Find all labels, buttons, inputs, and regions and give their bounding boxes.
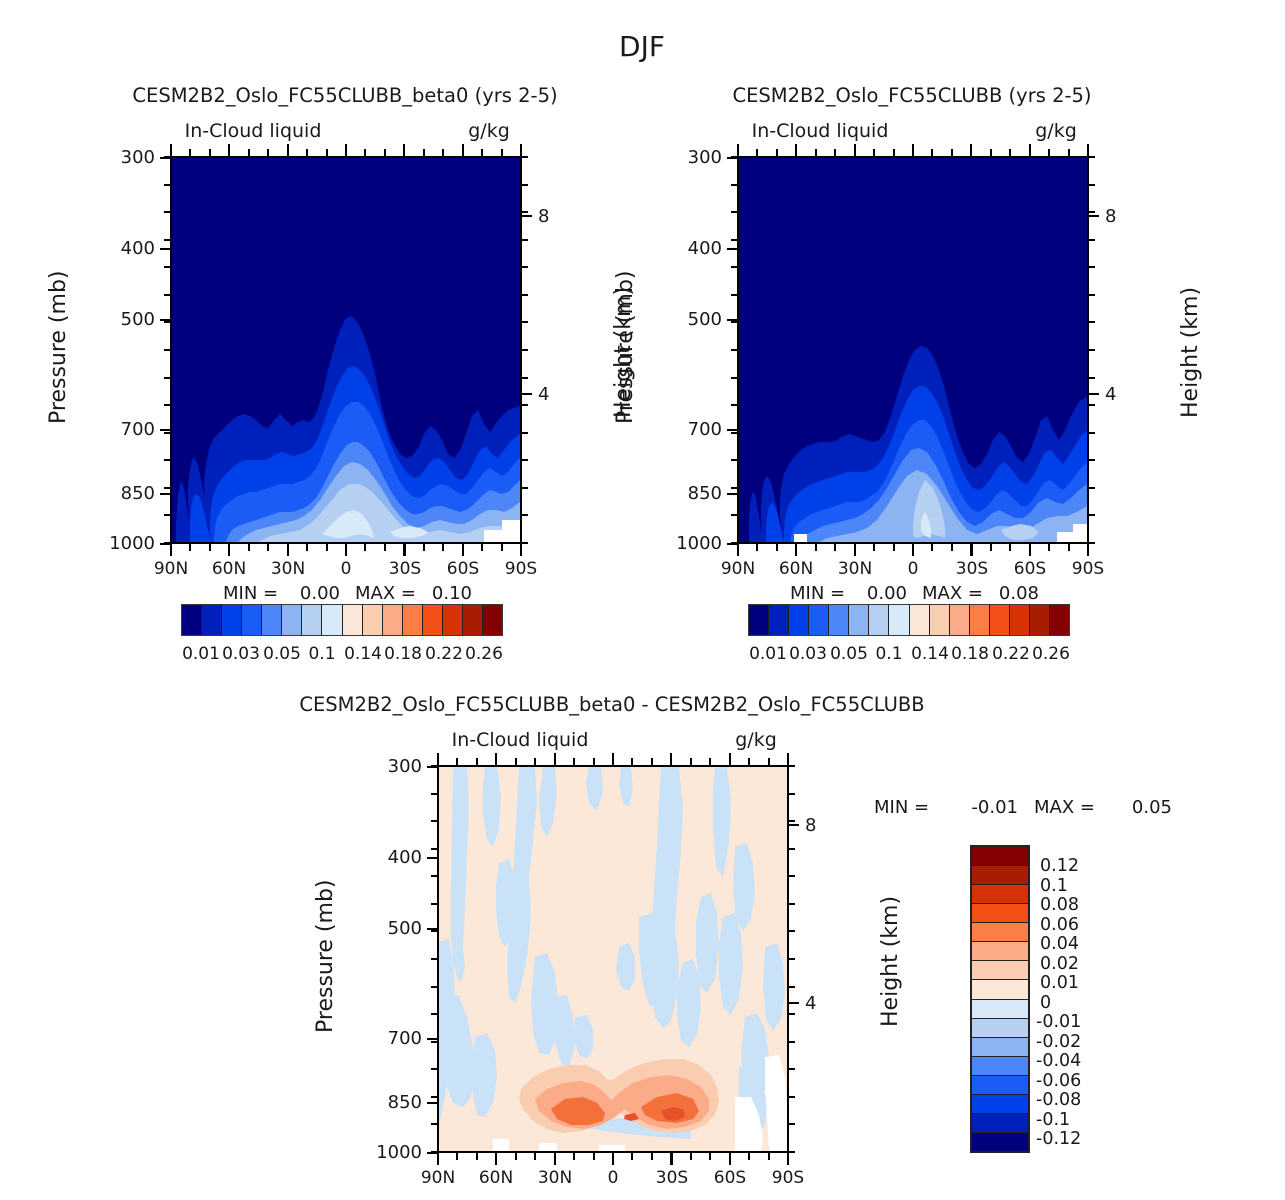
axis-minor-tick: [731, 487, 737, 489]
axis-minor-tick: [731, 156, 737, 158]
axis-minor-tick: [164, 294, 170, 296]
panel-top-left-plot-area: [170, 156, 522, 544]
panel-bottom-yaxis-label: Pressure (mb): [313, 880, 338, 1034]
xtick-label: 90N: [721, 559, 755, 579]
xtick-label: 90N: [154, 559, 188, 579]
contour-plot-top-right: [739, 158, 1087, 542]
axis-minor-tick: [612, 1153, 614, 1165]
axis-minor-tick: [789, 875, 795, 877]
axis-minor-tick: [873, 149, 875, 156]
axis-minor-tick: [170, 144, 172, 156]
axis-minor-tick: [164, 542, 170, 544]
ytick-label: 700: [388, 1028, 422, 1049]
ytick-label: 400: [688, 238, 722, 259]
axis-minor-tick: [731, 377, 737, 379]
axis-minor-tick: [893, 149, 895, 156]
axis-minor-tick: [756, 544, 758, 551]
axis-minor-tick: [709, 758, 711, 765]
axis-minor-tick: [1048, 544, 1050, 551]
axis-minor-tick: [248, 544, 250, 551]
axis-minor-tick: [164, 514, 170, 516]
xtick-label: 0: [341, 559, 352, 579]
cbar-tick-label: 0.01: [182, 644, 220, 664]
axis-minor-tick: [534, 1153, 536, 1160]
axis-minor-tick: [1068, 544, 1070, 551]
axis-minor-tick: [951, 544, 953, 551]
axis-minor-tick: [787, 753, 789, 765]
cbar-tick-label: 0.03: [222, 644, 260, 664]
cbar-tick-label: -0.02: [1036, 1032, 1081, 1052]
axis-minor-tick: [737, 144, 739, 156]
axis-minor-tick: [164, 321, 170, 323]
axis-minor-tick: [593, 1153, 595, 1160]
axis-minor-tick: [612, 753, 614, 765]
axis-minor-tick: [287, 544, 289, 556]
axis-minor-tick: [228, 144, 230, 156]
axis-minor-tick: [209, 149, 211, 156]
axis-minor-tick: [731, 266, 737, 268]
axis-minor-tick: [554, 1153, 556, 1165]
panel-bottom-variable-label: In-Cloud liquid: [452, 729, 589, 751]
xtick-label: 30S: [656, 1168, 688, 1188]
axis-minor-tick: [164, 211, 170, 213]
xtick-label: 60S: [714, 1168, 746, 1188]
xtick-label: 90S: [505, 559, 537, 579]
axis-minor-tick: [345, 144, 347, 156]
panel-top-right-min-value: 0.00: [867, 583, 907, 604]
cbar-tick-label: -0.06: [1036, 1071, 1081, 1091]
axis-minor-tick: [731, 294, 737, 296]
axis-minor-tick: [854, 544, 856, 556]
axis-minor-tick: [522, 294, 528, 296]
axis-minor-tick: [306, 544, 308, 551]
panel-top-left-units-label: g/kg: [468, 120, 510, 142]
axis-minor-tick: [1089, 321, 1095, 323]
panel-bottom-max-value: 0.05: [1132, 797, 1172, 818]
axis-minor-tick: [731, 211, 737, 213]
axis-minor-tick: [787, 1153, 789, 1165]
ytick-label: 500: [121, 309, 155, 330]
axis-minor-tick: [690, 1153, 692, 1160]
cbar-tick-label: 0.12: [1040, 856, 1079, 876]
axis-minor-tick: [651, 758, 653, 765]
axis-minor-tick: [1089, 487, 1095, 489]
cbar-tick-label: 0.1: [875, 644, 902, 664]
axis-minor-tick: [164, 404, 170, 406]
xtick-label: 30N: [838, 559, 872, 579]
cbar-tick-label: 0.02: [1040, 954, 1079, 974]
axis-minor-tick: [456, 1153, 458, 1160]
axis-minor-tick: [431, 1151, 437, 1153]
axis-minor-tick: [403, 544, 405, 556]
axis-minor-tick: [729, 753, 731, 765]
panel-top-left-title: CESM2B2_Oslo_FC55CLUBB_beta0 (yrs 2-5): [132, 84, 557, 107]
axis-minor-tick: [731, 542, 737, 544]
y2tick-label: 4: [805, 993, 816, 1014]
axis-minor-tick: [431, 930, 437, 932]
axis-minor-tick: [501, 149, 503, 156]
axis-minor-tick: [431, 1068, 437, 1070]
axis-minor-tick: [748, 758, 750, 765]
axis-minor-tick: [164, 487, 170, 489]
axis-minor-tick: [1089, 542, 1095, 544]
panel-bottom-plot-area: [437, 765, 789, 1153]
axis-minor-tick: [164, 459, 170, 461]
axis-minor-tick: [520, 544, 522, 556]
axis-minor-tick: [189, 544, 191, 551]
ytick-label: 1000: [376, 1142, 422, 1163]
cbar-tick-label: 0: [1040, 993, 1051, 1013]
cbar-tick-label: -0.12: [1036, 1129, 1081, 1149]
axis-minor-tick: [267, 544, 269, 551]
xtick-label: 0: [608, 1168, 619, 1188]
axis-minor-tick: [789, 958, 795, 960]
ytick-label: 700: [688, 419, 722, 440]
axis-minor-tick: [522, 184, 528, 186]
panel-bottom-y2axis-label: Height (km): [878, 896, 903, 1027]
cbar-tick-label: -0.01: [1036, 1012, 1081, 1032]
panel-top-right-min-label: MIN =: [790, 583, 845, 604]
axis-minor-tick: [912, 144, 914, 156]
axis-minor-tick: [873, 544, 875, 551]
contour-plot-bottom-difference: [439, 767, 787, 1151]
axis-minor-tick: [431, 1013, 437, 1015]
axis-minor-tick: [431, 958, 437, 960]
axis-minor-tick: [164, 184, 170, 186]
axis-minor-tick: [1087, 544, 1089, 556]
axis-minor-tick: [729, 1153, 731, 1165]
axis-minor-tick: [1029, 544, 1031, 556]
xtick-label: 30N: [271, 559, 305, 579]
axis-minor-tick: [709, 1153, 711, 1160]
axis-minor-tick: [834, 544, 836, 551]
axis-minor-tick: [522, 459, 528, 461]
axis-minor-tick: [431, 1041, 437, 1043]
axis-minor-tick: [442, 149, 444, 156]
axis-minor-tick: [501, 544, 503, 551]
axis-minor-tick: [789, 930, 795, 932]
axis-minor-tick: [731, 349, 737, 351]
axis-minor-tick: [164, 239, 170, 241]
axis-minor-tick: [164, 377, 170, 379]
axis-minor-tick: [554, 753, 556, 765]
axis-minor-tick: [522, 432, 528, 434]
xtick-label: 30S: [389, 559, 421, 579]
axis-minor-tick: [737, 544, 739, 556]
axis-minor-tick: [364, 544, 366, 551]
axis-minor-tick: [431, 1096, 437, 1098]
axis-minor-tick: [990, 149, 992, 156]
axis-minor-tick: [1089, 156, 1095, 158]
axis-minor-tick: [522, 514, 528, 516]
axis-minor-tick: [789, 986, 795, 988]
xtick-label: 0: [908, 559, 919, 579]
axis-minor-tick: [1009, 544, 1011, 551]
axis-minor-tick: [768, 758, 770, 765]
xtick-label: 60N: [479, 1168, 513, 1188]
axis-minor-tick: [522, 321, 528, 323]
xtick-label: 60S: [447, 559, 479, 579]
axis-minor-tick: [789, 1013, 795, 1015]
panel-top-right-plot-area: [737, 156, 1089, 544]
axis-minor-tick: [431, 1123, 437, 1125]
axis-minor-tick: [522, 377, 528, 379]
colorbar-top-right: [748, 604, 1070, 636]
colorbar-bottom-difference: [970, 845, 1030, 1153]
axis-minor-tick: [1089, 349, 1095, 351]
axis-minor-tick: [1068, 149, 1070, 156]
axis-minor-tick: [795, 544, 797, 556]
ytick-label: 400: [121, 238, 155, 259]
axis-minor-tick: [931, 149, 933, 156]
xtick-label: 60N: [779, 559, 813, 579]
season-title: DJF: [619, 30, 665, 63]
axis-minor-tick: [795, 144, 797, 156]
ytick-label: 500: [388, 918, 422, 939]
panel-top-right-yaxis-label: Pressure (mb): [613, 271, 638, 425]
axis-minor-tick: [403, 144, 405, 156]
axis-minor-tick: [789, 793, 795, 795]
axis-minor-tick: [1089, 239, 1095, 241]
y2tick-label: 4: [538, 384, 549, 405]
axis-minor-tick: [789, 820, 795, 822]
cbar-tick-label: 0.26: [465, 644, 503, 664]
axis-minor-tick: [1089, 459, 1095, 461]
panel-top-right-variable-label: In-Cloud liquid: [752, 120, 889, 142]
axis-minor-tick: [789, 1123, 795, 1125]
axis-minor-tick: [164, 266, 170, 268]
axis-minor-tick: [1089, 211, 1095, 213]
axis-minor-tick: [431, 848, 437, 850]
panel-top-left-yaxis-label: Pressure (mb): [46, 271, 71, 425]
axis-minor-tick: [431, 793, 437, 795]
axis-minor-tick: [1089, 184, 1095, 186]
axis-minor-tick: [815, 544, 817, 551]
panel-bottom-max-label: MAX =: [1034, 797, 1095, 818]
axis-minor-tick: [326, 149, 328, 156]
axis-minor-tick: [267, 149, 269, 156]
axis-minor-tick: [522, 211, 528, 213]
xtick-label: 60N: [212, 559, 246, 579]
axis-minor-tick: [731, 432, 737, 434]
y2tick-label: 8: [1105, 206, 1116, 227]
cbar-tick-label: 0.1: [1040, 876, 1068, 896]
axis-minor-tick: [423, 149, 425, 156]
axis-minor-tick: [522, 266, 528, 268]
axis-minor-tick: [476, 1153, 478, 1160]
panel-top-left-max-label: MAX =: [355, 583, 416, 604]
axis-minor-tick: [1089, 294, 1095, 296]
axis-minor-tick: [384, 149, 386, 156]
ytick-label: 700: [121, 419, 155, 440]
ytick-label: 850: [121, 483, 155, 504]
axis-minor-tick: [970, 144, 972, 156]
panel-bottom-title: CESM2B2_Oslo_FC55CLUBB_beta0 - CESM2B2_O…: [299, 693, 924, 716]
cbar-tick-label: 0.01: [1040, 973, 1079, 993]
ytick-label: 300: [688, 147, 722, 168]
axis-minor-tick: [522, 349, 528, 351]
axis-minor-tick: [170, 544, 172, 556]
y2tick-label: 8: [805, 815, 816, 836]
axis-minor-tick: [931, 544, 933, 551]
axis-minor-tick: [522, 239, 528, 241]
axis-minor-tick: [756, 149, 758, 156]
axis-minor-tick: [228, 544, 230, 556]
axis-minor-tick: [437, 1153, 439, 1165]
colorbar-top-left: [181, 604, 503, 636]
axis-minor-tick: [431, 820, 437, 822]
axis-minor-tick: [423, 544, 425, 551]
axis-minor-tick: [670, 753, 672, 765]
axis-minor-tick: [834, 149, 836, 156]
axis-minor-tick: [776, 149, 778, 156]
axis-minor-tick: [731, 239, 737, 241]
axis-minor-tick: [522, 156, 528, 158]
axis-minor-tick: [631, 1153, 633, 1160]
ytick-label: 1000: [676, 533, 722, 554]
axis-minor-tick: [431, 903, 437, 905]
xtick-label: 90N: [421, 1168, 455, 1188]
panel-top-right-units-label: g/kg: [1035, 120, 1077, 142]
axis-minor-tick: [1009, 149, 1011, 156]
ytick-label: 1000: [109, 533, 155, 554]
cbar-tick-label: 0.22: [992, 644, 1030, 664]
axis-minor-tick: [748, 1153, 750, 1160]
cbar-tick-label: 0.05: [830, 644, 868, 664]
axis-minor-tick: [776, 544, 778, 551]
axis-minor-tick: [515, 758, 517, 765]
contour-plot-top-left: [172, 158, 520, 542]
axis-minor-tick: [731, 514, 737, 516]
axis-minor-tick: [789, 1151, 795, 1153]
axis-minor-tick: [442, 544, 444, 551]
panel-bottom-min-value: -0.01: [971, 797, 1018, 818]
axis-minor-tick: [345, 544, 347, 556]
panel-top-right-y2axis-label: Height (km): [1178, 287, 1203, 418]
panel-top-right-title: CESM2B2_Oslo_FC55CLUBB (yrs 2-5): [732, 84, 1091, 107]
axis-minor-tick: [164, 156, 170, 158]
panel-top-right-max-value: 0.08: [999, 583, 1039, 604]
ytick-label: 400: [388, 847, 422, 868]
axis-minor-tick: [815, 149, 817, 156]
cbar-tick-label: 0.1: [308, 644, 335, 664]
axis-minor-tick: [495, 1153, 497, 1165]
y2tick-label: 4: [1105, 384, 1116, 405]
axis-minor-tick: [789, 1096, 795, 1098]
axis-minor-tick: [789, 903, 795, 905]
cbar-tick-label: 0.08: [1040, 895, 1079, 915]
cbar-tick-label: 0.04: [1040, 934, 1079, 954]
axis-minor-tick: [768, 1153, 770, 1160]
axis-minor-tick: [462, 144, 464, 156]
axis-minor-tick: [164, 432, 170, 434]
axis-minor-tick: [854, 144, 856, 156]
cbar-tick-label: 0.14: [344, 644, 382, 664]
axis-minor-tick: [573, 1153, 575, 1160]
axis-minor-tick: [437, 753, 439, 765]
cbar-tick-label: 0.22: [425, 644, 463, 664]
axis-minor-tick: [522, 404, 528, 406]
axis-minor-tick: [789, 1041, 795, 1043]
panel-top-left-variable-label: In-Cloud liquid: [185, 120, 322, 142]
panel-top-left-max-value: 0.10: [432, 583, 472, 604]
axis-minor-tick: [731, 459, 737, 461]
axis-minor-tick: [1048, 149, 1050, 156]
cbar-tick-label: 0.14: [911, 644, 949, 664]
xtick-label: 30S: [956, 559, 988, 579]
axis-minor-tick: [209, 544, 211, 551]
axis-minor-tick: [306, 149, 308, 156]
axis-minor-tick: [1089, 514, 1095, 516]
panel-top-left-min-label: MIN =: [223, 583, 278, 604]
axis-minor-tick: [287, 144, 289, 156]
axis-minor-tick: [789, 848, 795, 850]
axis-minor-tick: [462, 544, 464, 556]
ytick-label: 850: [388, 1092, 422, 1113]
xtick-label: 90S: [1072, 559, 1104, 579]
axis-minor-tick: [481, 544, 483, 551]
xtick-label: 60S: [1014, 559, 1046, 579]
axis-minor-tick: [534, 758, 536, 765]
axis-minor-tick: [631, 758, 633, 765]
cbar-tick-label: 0.18: [384, 644, 422, 664]
axis-minor-tick: [481, 149, 483, 156]
cbar-tick-label: 0.03: [789, 644, 827, 664]
cbar-tick-label: 0.05: [263, 644, 301, 664]
axis-minor-tick: [1029, 144, 1031, 156]
cbar-tick-label: 0.18: [951, 644, 989, 664]
axis-minor-tick: [431, 986, 437, 988]
axis-minor-tick: [789, 1068, 795, 1070]
axis-minor-tick: [1089, 377, 1095, 379]
axis-minor-tick: [1089, 432, 1095, 434]
axis-minor-tick: [431, 875, 437, 877]
axis-minor-tick: [593, 758, 595, 765]
axis-minor-tick: [476, 758, 478, 765]
axis-minor-tick: [326, 544, 328, 551]
cbar-tick-label: 0.26: [1032, 644, 1070, 664]
axis-minor-tick: [431, 765, 437, 767]
panel-top-right-max-label: MAX =: [922, 583, 983, 604]
axis-minor-tick: [1089, 266, 1095, 268]
axis-minor-tick: [364, 149, 366, 156]
xtick-label: 30N: [538, 1168, 572, 1188]
axis-minor-tick: [495, 753, 497, 765]
ytick-label: 300: [121, 147, 155, 168]
cbar-tick-label: -0.04: [1036, 1051, 1081, 1071]
axis-minor-tick: [164, 349, 170, 351]
axis-minor-tick: [970, 544, 972, 556]
axis-minor-tick: [522, 487, 528, 489]
xtick-label: 90S: [772, 1168, 804, 1188]
cbar-tick-label: 0.01: [749, 644, 787, 664]
panel-top-left-min-value: 0.00: [300, 583, 340, 604]
axis-minor-tick: [951, 149, 953, 156]
cbar-tick-label: -0.08: [1036, 1090, 1081, 1110]
axis-minor-tick: [789, 765, 795, 767]
axis-minor-tick: [893, 544, 895, 551]
axis-minor-tick: [731, 321, 737, 323]
axis-minor-tick: [248, 149, 250, 156]
axis-minor-tick: [520, 144, 522, 156]
ytick-label: 850: [688, 483, 722, 504]
panel-bottom-min-label: MIN =: [874, 797, 929, 818]
axis-minor-tick: [990, 544, 992, 551]
axis-minor-tick: [456, 758, 458, 765]
cbar-tick-label: 0.06: [1040, 915, 1079, 935]
axis-minor-tick: [189, 149, 191, 156]
y2tick-label: 8: [538, 206, 549, 227]
